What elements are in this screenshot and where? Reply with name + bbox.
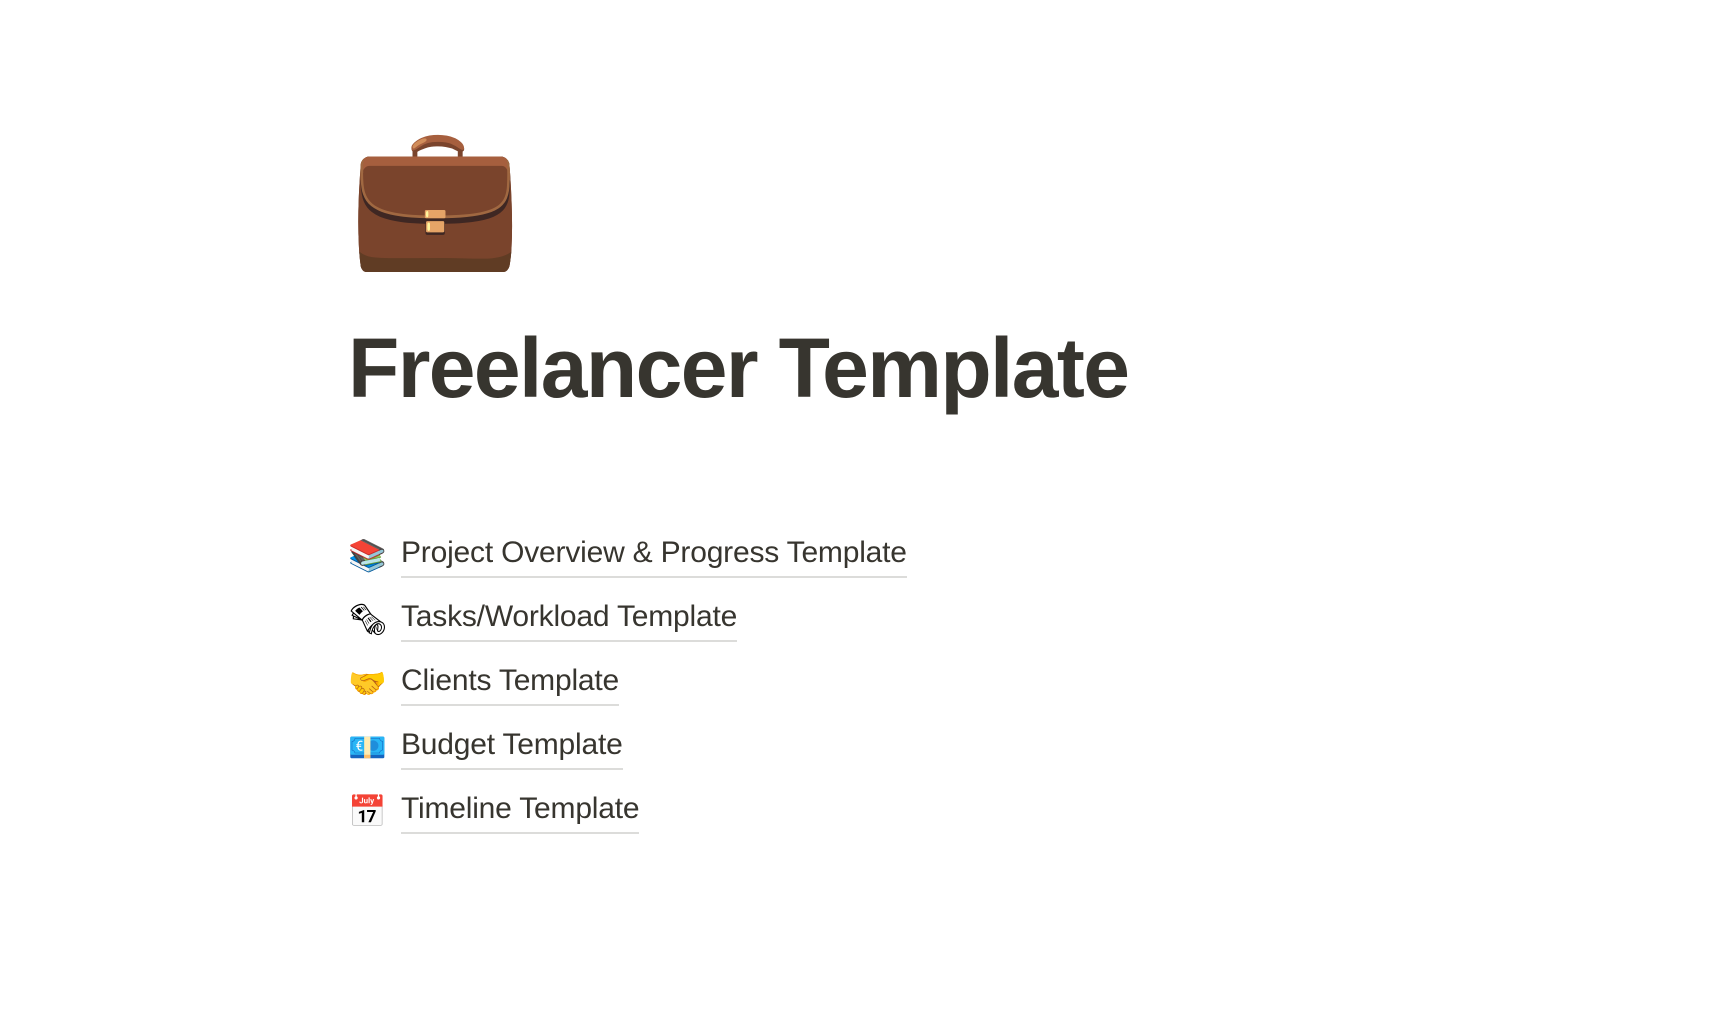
page-title: Freelancer Template [348, 318, 1128, 418]
link-tasks-workload-template[interactable]: Tasks/Workload Template [401, 598, 737, 642]
list-item[interactable]: 💶 Budget Template [348, 716, 1348, 780]
link-budget-template[interactable]: Budget Template [401, 726, 623, 770]
handshake-icon: 🤝 [348, 665, 386, 703]
list-item[interactable]: 🗞 Tasks/Workload Template [348, 588, 1348, 652]
rolled-newspaper-icon: 🗞 [348, 601, 386, 639]
template-link-list: 📚 Project Overview & Progress Template 🗞… [348, 524, 1348, 844]
books-icon: 📚 [348, 537, 386, 575]
euro-banknote-icon: 💶 [348, 729, 386, 767]
list-item[interactable]: 📚 Project Overview & Progress Template [348, 524, 1348, 588]
briefcase-icon[interactable]: 💼 [348, 118, 504, 274]
link-timeline-template[interactable]: Timeline Template [401, 790, 639, 834]
calendar-icon: 📅 [348, 793, 386, 831]
list-item[interactable]: 📅 Timeline Template [348, 780, 1348, 844]
link-clients-template[interactable]: Clients Template [401, 662, 619, 706]
list-item[interactable]: 🤝 Clients Template [348, 652, 1348, 716]
page-canvas: 💼 Freelancer Template 📚 Project Overview… [0, 0, 1734, 1024]
link-project-overview-progress-template[interactable]: Project Overview & Progress Template [401, 534, 907, 578]
